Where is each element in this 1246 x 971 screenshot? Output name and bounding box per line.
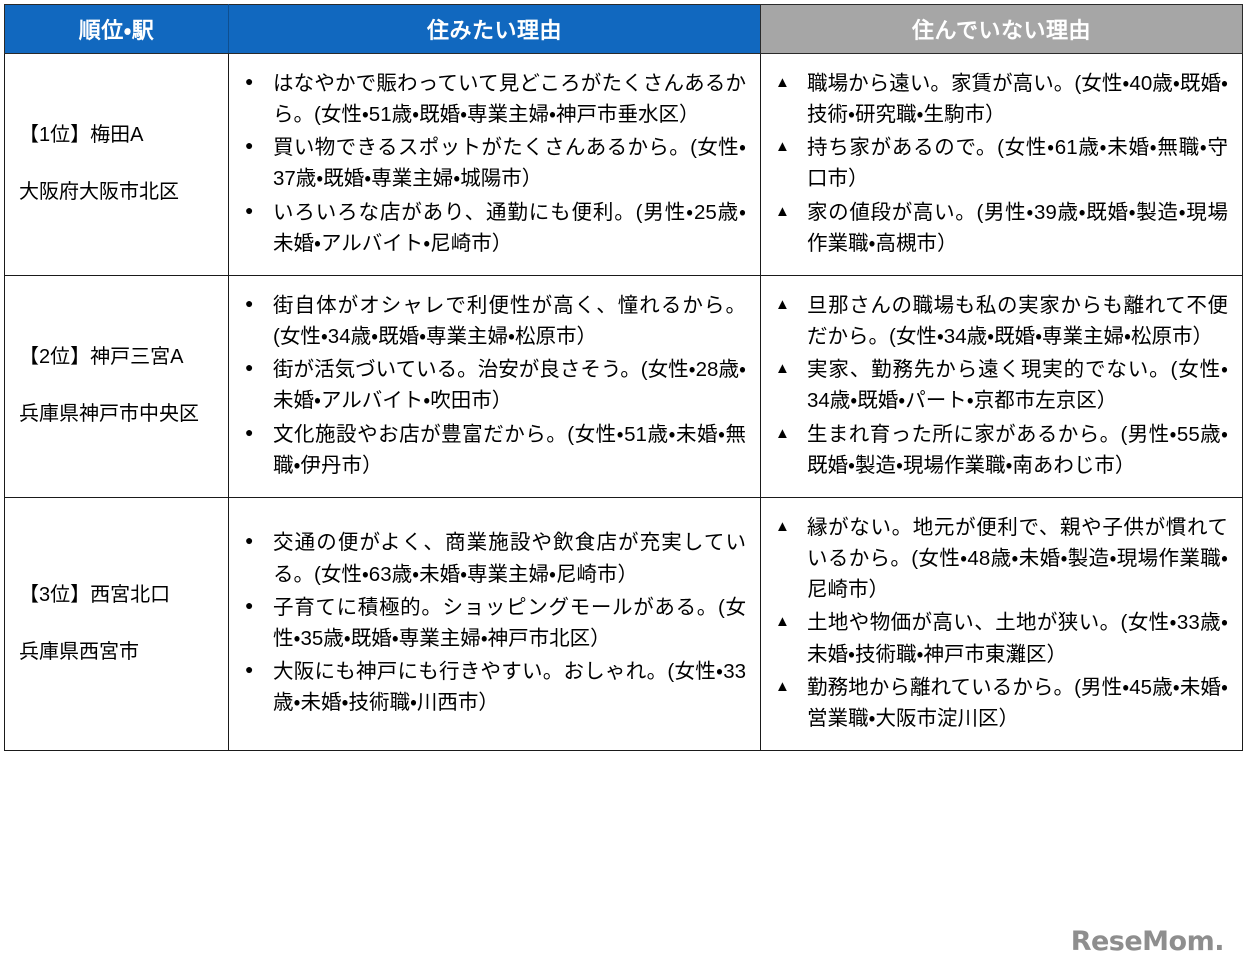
table-row: 【1位】梅田A 大阪府大阪市北区 ●はなやかで賑わっていて見どころがたくさんある… [5, 54, 1243, 276]
list-item: ▲生まれ育った所に家があるから。(男性・55歳・既婚・製造・現場作業職・南あわじ… [771, 419, 1228, 481]
list-item: ●買い物できるスポットがたくさんあるから。(女性・37歳・既婚・専業主婦・城陽市… [239, 132, 746, 194]
reason-text: いろいろな店があり、通勤にも便利。(男性・25歳・未婚・アルバイト・尼崎市） [273, 201, 746, 255]
ranking-table-page: 順位・駅 住みたい理由 住んでいない理由 【1位】梅田A 大阪府大阪市北区 ●は… [0, 4, 1246, 971]
triangle-icon: ▲ [775, 354, 790, 384]
not-living-reason-cell: ▲職場から遠い。家賃が高い。(女性・40歳・既婚・技術・研究職・生駒市） ▲持ち… [761, 54, 1243, 276]
reason-text: 文化施設やお店が豊富だから。(女性・51歳・未婚・無職・伊丹市） [273, 423, 746, 477]
resemom-logo: ReseMom. [1071, 926, 1224, 957]
reason-text: 持ち家があるので。(女性・61歳・未婚・無職・守口市） [807, 136, 1228, 190]
not-living-reason-list: ▲縁がない。地元が便利で、親や子供が慣れているから。(女性・48歳・未婚・製造・… [771, 512, 1228, 734]
list-item: ●大阪にも神戸にも行きやすい。おしゃれ。(女性・33歳・未婚・技術職・川西市） [239, 656, 746, 718]
bullet-icon: ● [245, 592, 253, 620]
want-reason-list: ●交通の便がよく、商業施設や飲食店が充実している。(女性・63歳・未婚・専業主婦… [239, 527, 746, 718]
bullet-icon: ● [245, 354, 253, 382]
reason-text: 旦那さんの職場も私の実家からも離れて不便だから。(女性・34歳・既婚・専業主婦・… [807, 294, 1228, 348]
list-item: ▲土地や物価が高い、土地が狭い。(女性・33歳・未婚・技術職・神戸市東灘区） [771, 607, 1228, 669]
list-item: ●文化施設やお店が豊富だから。(女性・51歳・未婚・無職・伊丹市） [239, 419, 746, 481]
list-item: ▲持ち家があるので。(女性・61歳・未婚・無職・守口市） [771, 132, 1228, 194]
station-ranking-table: 順位・駅 住みたい理由 住んでいない理由 【1位】梅田A 大阪府大阪市北区 ●は… [4, 4, 1243, 751]
column-header-not-living-reason: 住んでいない理由 [761, 5, 1243, 54]
want-reason-cell: ●はなやかで賑わっていて見どころがたくさんあるから。(女性・51歳・既婚・専業主… [229, 54, 761, 276]
logo-text: ReseMom [1071, 926, 1215, 957]
bullet-icon: ● [245, 656, 253, 684]
triangle-icon: ▲ [775, 132, 790, 162]
logo-suffix: . [1214, 926, 1224, 957]
triangle-icon: ▲ [775, 512, 790, 542]
table-row: 【2位】神戸三宮A 兵庫県神戸市中央区 ●街自体がオシャレで利便性が高く、憧れる… [5, 275, 1243, 497]
reason-text: 街自体がオシャレで利便性が高く、憧れるから。(女性・34歳・既婚・専業主婦・松原… [273, 294, 746, 348]
column-header-rank-station: 順位・駅 [5, 5, 229, 54]
list-item: ●はなやかで賑わっていて見どころがたくさんあるから。(女性・51歳・既婚・専業主… [239, 68, 746, 130]
bullet-icon: ● [245, 290, 253, 318]
reason-text: 家の値段が高い。(男性・39歳・既婚・製造・現場作業職・高槻市） [807, 201, 1228, 255]
table-row: 【3位】西宮北口 兵庫県西宮市 ●交通の便がよく、商業施設や飲食店が充実している… [5, 497, 1243, 750]
reason-text: 買い物できるスポットがたくさんあるから。(女性・37歳・既婚・専業主婦・城陽市） [273, 136, 746, 190]
list-item: ●交通の便がよく、商業施設や飲食店が充実している。(女性・63歳・未婚・専業主婦… [239, 527, 746, 589]
list-item: ●いろいろな店があり、通勤にも便利。(男性・25歳・未婚・アルバイト・尼崎市） [239, 197, 746, 259]
column-header-want-reason: 住みたい理由 [229, 5, 761, 54]
not-living-reason-cell: ▲旦那さんの職場も私の実家からも離れて不便だから。(女性・34歳・既婚・専業主婦… [761, 275, 1243, 497]
list-item: ▲勤務地から離れているから。(男性・45歳・未婚・営業職・大阪市淀川区） [771, 672, 1228, 734]
triangle-icon: ▲ [775, 68, 790, 98]
triangle-icon: ▲ [775, 419, 790, 449]
rank-title: 【2位】神戸三宮A [19, 342, 222, 373]
rank-title: 【3位】西宮北口 [19, 580, 222, 611]
triangle-icon: ▲ [775, 290, 790, 320]
rank-station-cell: 【3位】西宮北口 兵庫県西宮市 [5, 497, 229, 750]
reason-text: 勤務地から離れているから。(男性・45歳・未婚・営業職・大阪市淀川区） [807, 676, 1228, 730]
reason-text: 実家、勤務先から遠く現実的でない。(女性・34歳・既婚・パート・京都市左京区） [807, 358, 1228, 412]
list-item: ▲実家、勤務先から遠く現実的でない。(女性・34歳・既婚・パート・京都市左京区） [771, 354, 1228, 416]
rank-address: 兵庫県西宮市 [19, 637, 222, 668]
triangle-icon: ▲ [775, 672, 790, 702]
reason-text: 職場から遠い。家賃が高い。(女性・40歳・既婚・技術・研究職・生駒市） [807, 72, 1228, 126]
reason-text: 街が活気づいている。治安が良さそう。(女性・28歳・未婚・アルバイト・吹田市） [273, 358, 746, 412]
want-reason-cell: ●交通の便がよく、商業施設や飲食店が充実している。(女性・63歳・未婚・専業主婦… [229, 497, 761, 750]
reason-text: 大阪にも神戸にも行きやすい。おしゃれ。(女性・33歳・未婚・技術職・川西市） [273, 660, 746, 714]
triangle-icon: ▲ [775, 197, 790, 227]
reason-text: はなやかで賑わっていて見どころがたくさんあるから。(女性・51歳・既婚・専業主婦… [273, 72, 746, 126]
reason-text: 子育てに積極的。ショッピングモールがある。(女性・35歳・既婚・専業主婦・神戸市… [273, 596, 746, 650]
triangle-icon: ▲ [775, 607, 790, 637]
rank-address: 兵庫県神戸市中央区 [19, 399, 222, 430]
rank-title: 【1位】梅田A [19, 120, 222, 151]
want-reason-list: ●街自体がオシャレで利便性が高く、憧れるから。(女性・34歳・既婚・専業主婦・松… [239, 290, 746, 481]
rank-station-cell: 【1位】梅田A 大阪府大阪市北区 [5, 54, 229, 276]
not-living-reason-cell: ▲縁がない。地元が便利で、親や子供が慣れているから。(女性・48歳・未婚・製造・… [761, 497, 1243, 750]
list-item: ●街が活気づいている。治安が良さそう。(女性・28歳・未婚・アルバイト・吹田市） [239, 354, 746, 416]
reason-text: 交通の便がよく、商業施設や飲食店が充実している。(女性・63歳・未婚・専業主婦・… [273, 531, 746, 585]
list-item: ▲職場から遠い。家賃が高い。(女性・40歳・既婚・技術・研究職・生駒市） [771, 68, 1228, 130]
bullet-icon: ● [245, 419, 253, 447]
want-reason-cell: ●街自体がオシャレで利便性が高く、憧れるから。(女性・34歳・既婚・専業主婦・松… [229, 275, 761, 497]
table-header-row: 順位・駅 住みたい理由 住んでいない理由 [5, 5, 1243, 54]
not-living-reason-list: ▲職場から遠い。家賃が高い。(女性・40歳・既婚・技術・研究職・生駒市） ▲持ち… [771, 68, 1228, 259]
list-item: ▲家の値段が高い。(男性・39歳・既婚・製造・現場作業職・高槻市） [771, 197, 1228, 259]
reason-text: 縁がない。地元が便利で、親や子供が慣れているから。(女性・48歳・未婚・製造・現… [807, 516, 1228, 601]
list-item: ●街自体がオシャレで利便性が高く、憧れるから。(女性・34歳・既婚・専業主婦・松… [239, 290, 746, 352]
reason-text: 生まれ育った所に家があるから。(男性・55歳・既婚・製造・現場作業職・南あわじ市… [807, 423, 1228, 477]
rank-station-cell: 【2位】神戸三宮A 兵庫県神戸市中央区 [5, 275, 229, 497]
want-reason-list: ●はなやかで賑わっていて見どころがたくさんあるから。(女性・51歳・既婚・専業主… [239, 68, 746, 259]
bullet-icon: ● [245, 132, 253, 160]
list-item: ▲旦那さんの職場も私の実家からも離れて不便だから。(女性・34歳・既婚・専業主婦… [771, 290, 1228, 352]
list-item: ●子育てに積極的。ショッピングモールがある。(女性・35歳・既婚・専業主婦・神戸… [239, 592, 746, 654]
reason-text: 土地や物価が高い、土地が狭い。(女性・33歳・未婚・技術職・神戸市東灘区） [807, 611, 1228, 665]
not-living-reason-list: ▲旦那さんの職場も私の実家からも離れて不便だから。(女性・34歳・既婚・専業主婦… [771, 290, 1228, 481]
list-item: ▲縁がない。地元が便利で、親や子供が慣れているから。(女性・48歳・未婚・製造・… [771, 512, 1228, 605]
bullet-icon: ● [245, 197, 253, 225]
rank-address: 大阪府大阪市北区 [19, 177, 222, 208]
bullet-icon: ● [245, 68, 253, 96]
bullet-icon: ● [245, 527, 253, 555]
